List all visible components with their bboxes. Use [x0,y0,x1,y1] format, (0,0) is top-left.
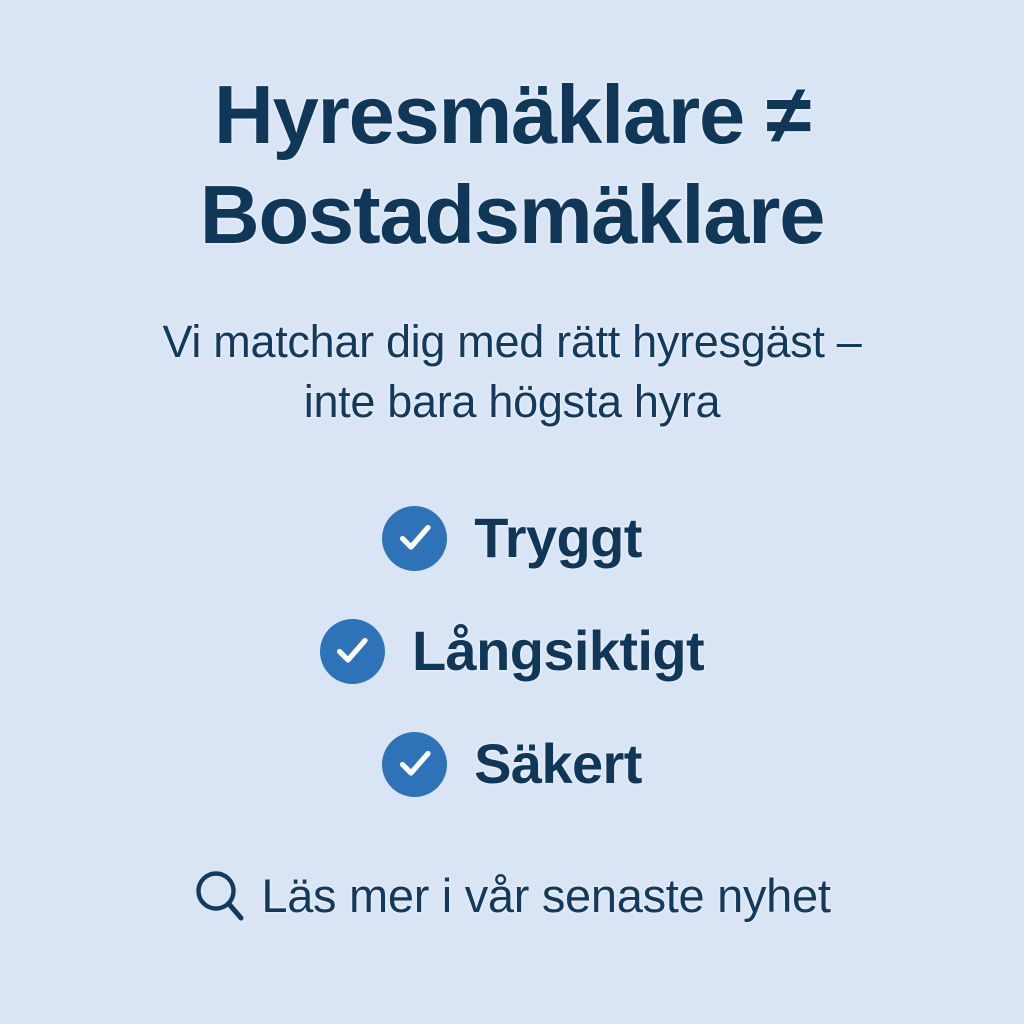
check-circle-icon [320,619,385,684]
promo-poster: Hyresmäklare ≠ Bostadsmäklare Vi matchar… [0,0,1024,1024]
benefit-label: Tryggt [474,510,642,566]
subtitle-line-1: Vi matchar dig med rätt hyresgäst – [60,312,964,372]
read-more-link[interactable]: Läs mer i vår senaste nyhet [193,867,830,925]
check-circle-icon [382,506,447,571]
subtitle: Vi matchar dig med rätt hyresgäst – inte… [0,312,1024,432]
headline-line-1: Hyresmäklare ≠ [40,73,984,156]
page-title: Hyresmäklare ≠ Bostadsmäklare [0,0,1024,256]
benefits-list: Tryggt Långsiktigt Säkert [0,506,1024,797]
search-icon [193,867,247,925]
list-item: Långsiktigt [320,619,704,684]
benefit-label: Långsiktigt [412,623,704,679]
check-circle-icon [382,732,447,797]
read-more-label: Läs mer i vår senaste nyhet [261,872,830,919]
benefit-label: Säkert [474,736,642,792]
list-item: Säkert [382,732,642,797]
subtitle-line-2: inte bara högsta hyra [60,372,964,432]
headline-line-2: Bostadsmäklare [40,173,984,256]
list-item: Tryggt [382,506,642,571]
